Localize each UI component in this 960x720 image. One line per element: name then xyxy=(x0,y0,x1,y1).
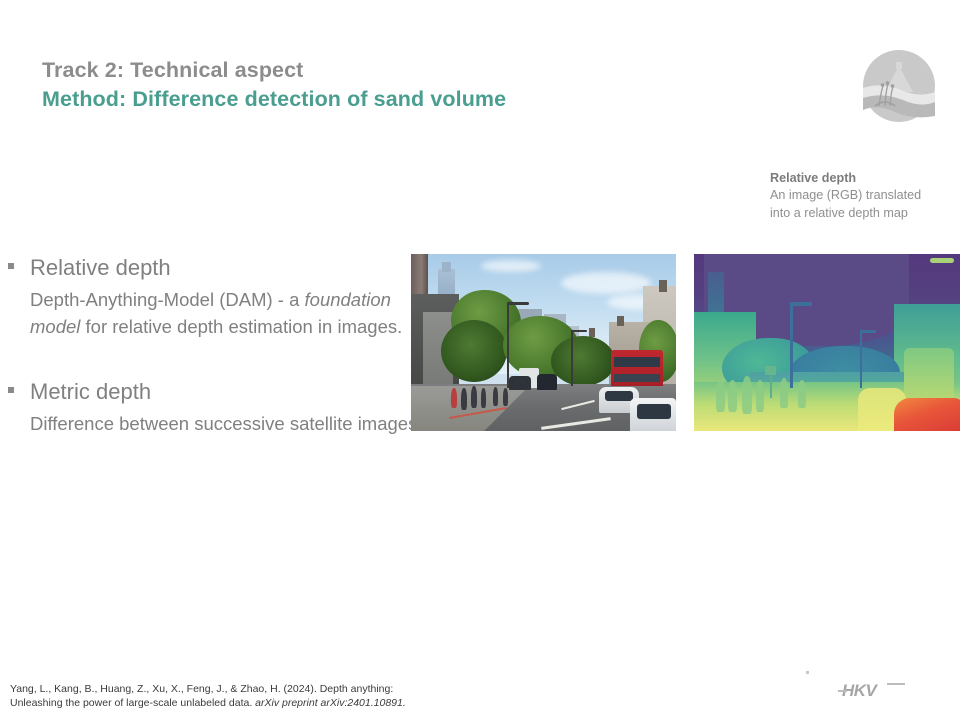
depth-car-nearest xyxy=(894,398,960,431)
organization-logo-icon xyxy=(861,48,937,124)
depth-sign xyxy=(765,366,776,375)
depth-pedestrian xyxy=(728,380,737,412)
photo-glass-tower-top xyxy=(442,262,451,272)
photo-car-window xyxy=(637,404,671,419)
spacer xyxy=(0,360,420,376)
caption-line-2: into a relative depth map xyxy=(770,205,960,223)
depth-lamp-post xyxy=(790,302,793,388)
depth-lamp-post xyxy=(860,330,862,388)
figure-caption: Relative depth An image (RGB) translated… xyxy=(770,170,960,222)
depth-pedestrian xyxy=(742,376,752,414)
photo-pedestrian xyxy=(481,388,486,408)
logo-bar-top xyxy=(887,683,905,685)
photo-pedestrian xyxy=(451,388,457,408)
relative-depth-map xyxy=(694,254,960,431)
logo-bar-left xyxy=(838,690,847,692)
depth-lamp-head xyxy=(860,330,876,333)
bullet-square-icon xyxy=(8,387,14,393)
photo-pedestrian xyxy=(493,387,498,406)
photo-tree xyxy=(441,320,507,382)
footer-citation: Yang, L., Kang, B., Huang, Z., Xu, X., F… xyxy=(10,682,530,710)
photo-pedestrian xyxy=(471,386,477,408)
hkv-logo-text: HKV xyxy=(842,681,876,700)
photo-pedestrian xyxy=(503,388,508,406)
bullet-item-relative-depth: Relative depth xyxy=(0,252,420,284)
photo-chimney xyxy=(659,280,667,292)
citation-line-1: Yang, L., Kang, B., Huang, Z., Xu, X., F… xyxy=(10,682,530,696)
sub-text-metric-depth: Difference between successive satellite … xyxy=(30,410,420,437)
citation-line-2: Unleashing the power of large-scale unla… xyxy=(10,696,530,710)
bullet-heading-relative-depth: Relative depth xyxy=(30,252,420,284)
page-title: Track 2: Technical aspect Method: Differ… xyxy=(42,56,802,114)
photo-bus-windows xyxy=(614,374,660,382)
photo-car xyxy=(537,374,557,390)
bullet-heading-metric-depth: Metric depth xyxy=(30,376,420,408)
bullet-item-metric-depth: Metric depth xyxy=(0,376,420,408)
title-track-line: Track 2: Technical aspect xyxy=(42,56,802,84)
citation-italic: arXiv preprint arXiv:2401.10891. xyxy=(255,697,406,709)
hkv-logo: HKV xyxy=(842,681,902,703)
photo-car-window xyxy=(605,391,633,401)
photo-lamp-post xyxy=(571,330,573,386)
content-body: Relative depth Depth-Anything-Model (DAM… xyxy=(0,252,420,457)
depth-pedestrian xyxy=(798,380,806,408)
photo-tree xyxy=(551,336,615,386)
bullet-square-icon xyxy=(8,263,14,269)
photo-cloud xyxy=(561,272,651,294)
photo-lamp-post xyxy=(507,302,509,388)
depth-pedestrian xyxy=(780,378,788,408)
depth-lamp-head xyxy=(790,302,812,306)
depth-pedestrian xyxy=(756,380,764,412)
photo-cloud xyxy=(481,260,541,272)
sub-text-part-1: Depth-Anything-Model (DAM) - a xyxy=(30,289,305,310)
photo-lamp-head xyxy=(571,330,587,332)
photo-pedestrian xyxy=(461,388,467,410)
decorative-dot xyxy=(806,671,809,674)
photo-bus-windows xyxy=(614,357,660,367)
bullet-sub-metric-depth: Difference between successive satellite … xyxy=(0,410,420,437)
depth-building-near xyxy=(904,348,954,400)
caption-title: Relative depth xyxy=(770,170,960,187)
depth-highlight-streak xyxy=(930,258,954,263)
photo-car xyxy=(509,376,531,390)
bullet-sub-relative-depth: Depth-Anything-Model (DAM) - a foundatio… xyxy=(0,286,420,340)
photo-chimney xyxy=(617,316,624,326)
title-method-line: Method: Difference detection of sand vol… xyxy=(42,84,802,114)
rgb-street-photo xyxy=(411,254,676,431)
photo-lamp-head xyxy=(507,302,529,305)
sub-text-part-2: for relative depth estimation in images. xyxy=(80,316,402,337)
citation-plain: Unleashing the power of large-scale unla… xyxy=(10,697,255,709)
caption-line-1: An image (RGB) translated xyxy=(770,187,960,205)
sub-text-relative-depth: Depth-Anything-Model (DAM) - a foundatio… xyxy=(30,286,420,340)
depth-pedestrian xyxy=(716,378,725,412)
